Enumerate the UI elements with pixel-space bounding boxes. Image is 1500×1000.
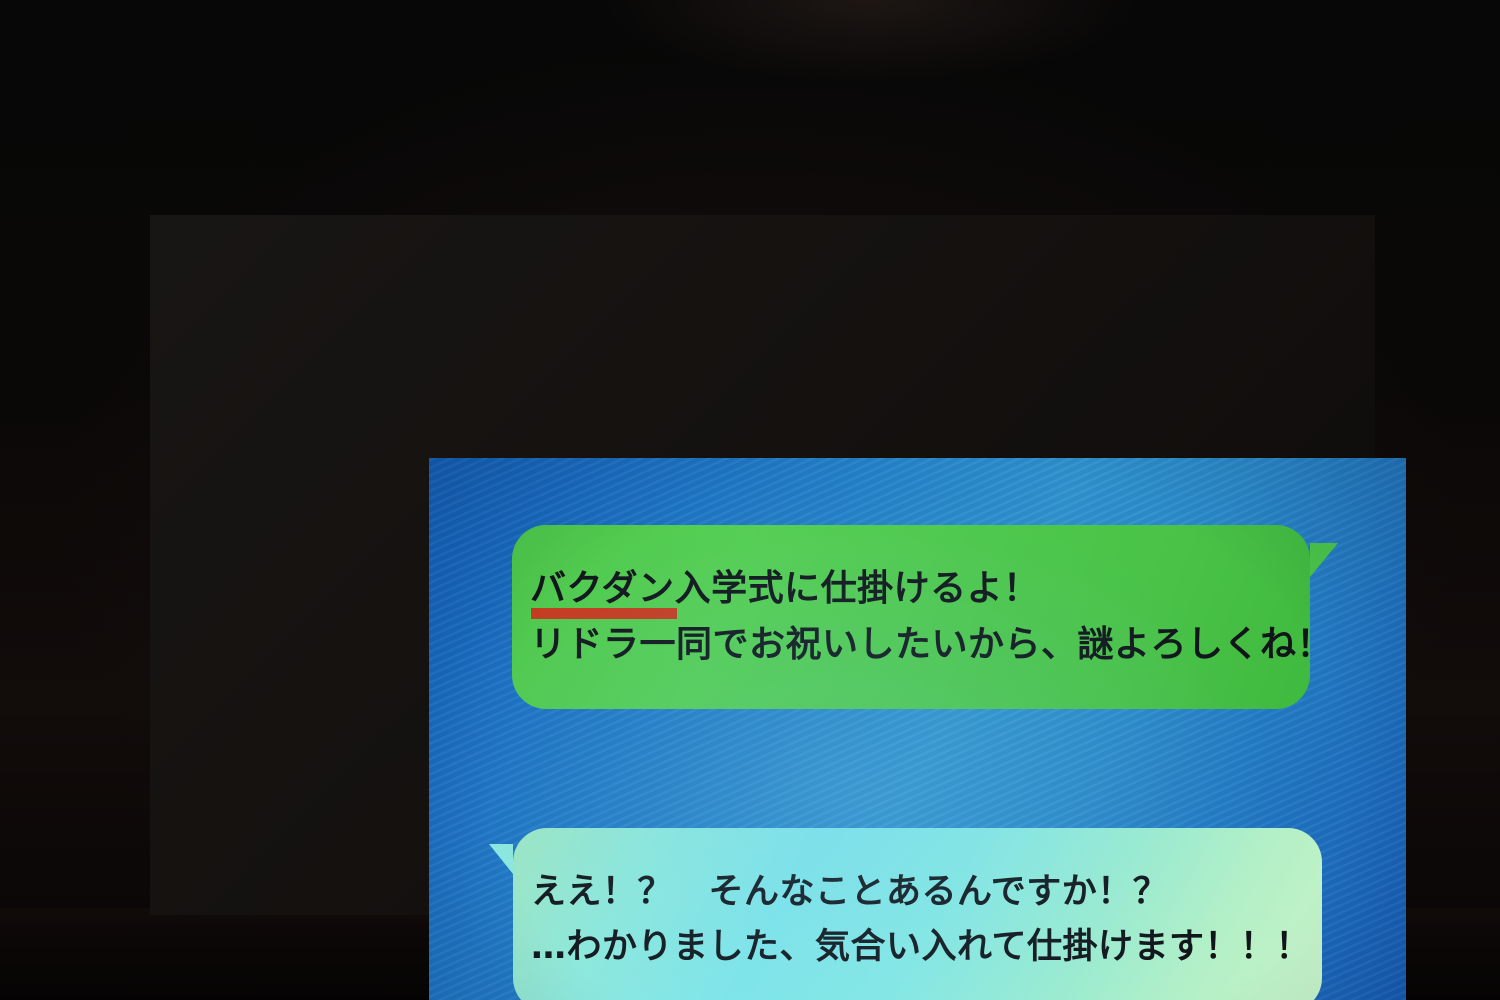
bubble-reply-line-2: …わかりました、気合い入れて仕掛けます！！！: [531, 930, 1292, 965]
bubble-sender-text: バクダン入学式に仕掛けるよ！ リドラ一同でお祝いしたいから、謎よろしくね！: [512, 525, 1310, 709]
projected-slide: バクダン入学式に仕掛けるよ！ リドラ一同でお祝いしたいから、謎よろしくね！ ええ…: [429, 458, 1406, 1000]
bubble-reply-line-1: ええ！？ そんなことあるんですか！？: [531, 875, 1292, 910]
bubble-sender-tail-icon: [1310, 543, 1338, 577]
bubble-reply-tail-icon: [489, 844, 513, 874]
bubble-sender-line-1-rest: 入学式に仕掛けるよ！: [675, 568, 1040, 609]
keyword-bakudan: バクダン: [530, 571, 675, 607]
bubble-reply-line-1-text: ええ！？ そんなことあるんですか！？: [531, 872, 1168, 912]
speech-bubble-reply: ええ！？ そんなことあるんですか！？ …わかりました、気合い入れて仕掛けます！！…: [513, 828, 1322, 1000]
bubble-reply-line-2-text: …わかりました、気合い入れて仕掛けます！！！: [531, 927, 1311, 967]
bubble-sender-line-1: バクダン入学式に仕掛けるよ！: [530, 571, 1280, 607]
projection-screen-frame: バクダン入学式に仕掛けるよ！ リドラ一同でお祝いしたいから、謎よろしくね！ ええ…: [150, 215, 1375, 915]
bubble-sender-line-2-text: リドラ一同でお祝いしたいから、謎よろしくね！: [530, 624, 1333, 665]
bubble-reply-text: ええ！？ そんなことあるんですか！？ …わかりました、気合い入れて仕掛けます！！…: [513, 828, 1322, 1000]
speech-bubble-sender: バクダン入学式に仕掛けるよ！ リドラ一同でお祝いしたいから、謎よろしくね！: [512, 525, 1310, 709]
ceiling-glow: [520, 0, 1220, 150]
bubble-sender-line-2: リドラ一同でお祝いしたいから、謎よろしくね！: [530, 627, 1280, 663]
screenshot-root: バクダン入学式に仕掛けるよ！ リドラ一同でお祝いしたいから、謎よろしくね！ ええ…: [0, 0, 1500, 1000]
